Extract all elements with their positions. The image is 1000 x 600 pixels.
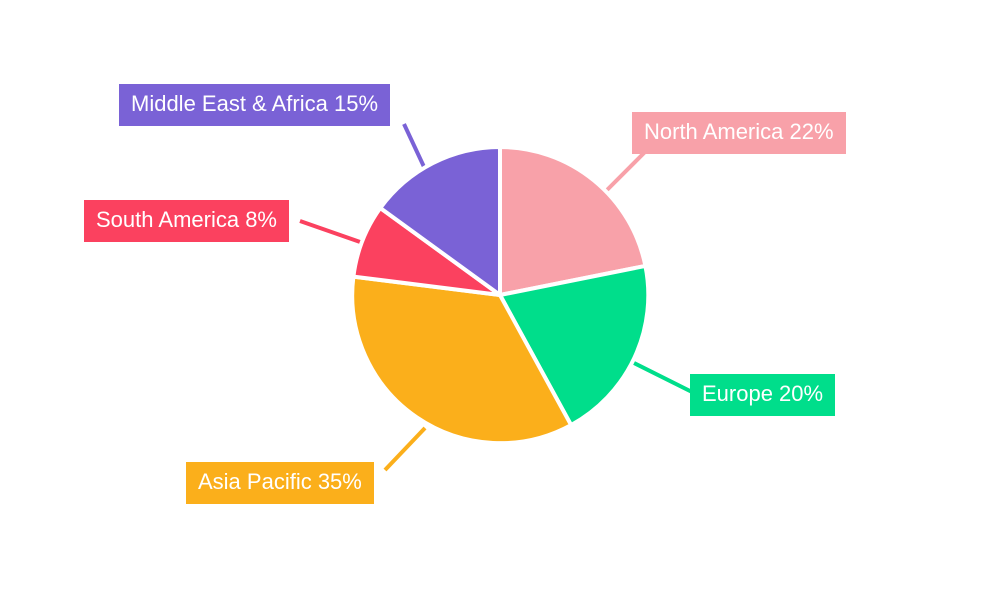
leader-line-south-america bbox=[300, 221, 363, 243]
leader-line-north-america bbox=[601, 152, 645, 196]
leader-line-asia-pacific bbox=[385, 428, 425, 470]
pie-chart-figure: North America 22% Europe 20% Asia Pacifi… bbox=[0, 0, 1000, 600]
pie-slices-group bbox=[352, 147, 648, 443]
pie-label-middle-east-africa[interactable]: Middle East & Africa 15% bbox=[119, 84, 390, 126]
pie-label-asia-pacific[interactable]: Asia Pacific 35% bbox=[186, 462, 374, 504]
pie-label-north-america[interactable]: North America 22% bbox=[632, 112, 846, 154]
pie-label-europe[interactable]: Europe 20% bbox=[690, 374, 835, 416]
pie-label-south-america[interactable]: South America 8% bbox=[84, 200, 289, 242]
